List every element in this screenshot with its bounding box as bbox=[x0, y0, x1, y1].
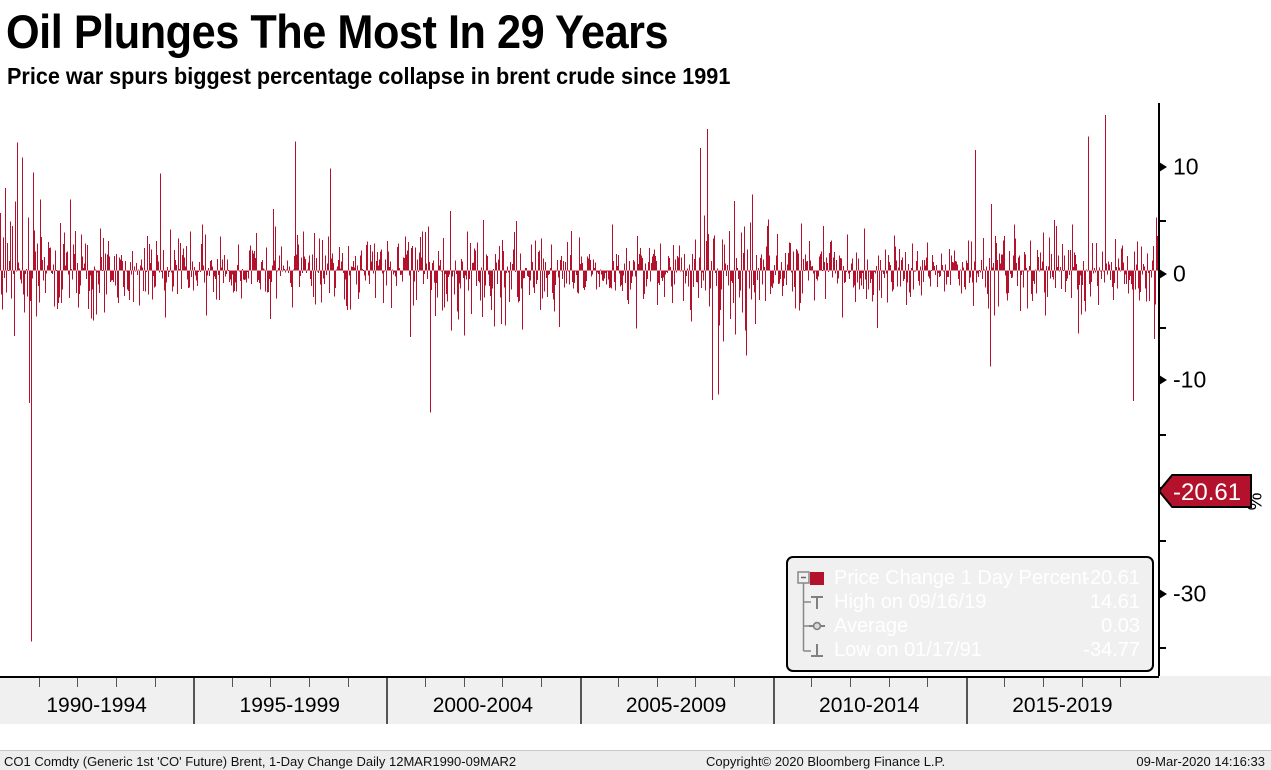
x-axis-tick bbox=[155, 678, 156, 687]
flag-arrow-icon bbox=[1159, 474, 1173, 508]
x-axis-label: 2015-2019 bbox=[1012, 694, 1112, 718]
y-tick-arrow-icon bbox=[1159, 162, 1167, 172]
x-axis-divider bbox=[580, 678, 582, 724]
x-axis-tick bbox=[270, 678, 271, 687]
chart-page: Oil Plunges The Most In 29 Years Price w… bbox=[0, 0, 1271, 770]
y-tick-minor bbox=[1160, 540, 1166, 542]
x-axis-tick bbox=[889, 678, 890, 687]
x-axis-tick bbox=[1004, 678, 1005, 687]
x-axis-tick bbox=[77, 678, 78, 687]
x-axis-tick bbox=[348, 678, 349, 687]
legend-row-label: High on 09/16/19 bbox=[834, 590, 986, 614]
x-axis-label: 2000-2004 bbox=[433, 694, 533, 718]
y-tick-arrow-icon bbox=[1159, 589, 1167, 599]
legend-row-value: 14.61 bbox=[1090, 590, 1140, 614]
x-axis-tick bbox=[811, 678, 812, 687]
x-axis-tick bbox=[425, 678, 426, 687]
y-tick-label: -30 bbox=[1173, 582, 1206, 605]
x-axis: 1990-19941995-19992000-20042005-20092010… bbox=[0, 676, 1271, 724]
chart-footer: CO1 Comdty (Generic 1st 'CO' Future) Bre… bbox=[0, 750, 1271, 770]
x-axis-tick bbox=[541, 678, 542, 687]
x-axis-tick bbox=[734, 678, 735, 687]
average-marker-icon bbox=[800, 614, 834, 638]
x-axis-divider bbox=[966, 678, 968, 724]
y-tick-minor bbox=[1160, 434, 1166, 436]
low-marker-icon bbox=[800, 638, 834, 662]
x-axis-tick bbox=[232, 678, 233, 687]
x-axis-tick bbox=[309, 678, 310, 687]
x-axis-divider bbox=[386, 678, 388, 724]
square-swatch-icon bbox=[800, 566, 834, 590]
x-axis-tick bbox=[1082, 678, 1083, 687]
legend-row-value: 0.03 bbox=[1101, 614, 1140, 638]
source-line: Source: Bloomberg bbox=[0, 724, 1271, 750]
y-tick-minor bbox=[1160, 647, 1166, 649]
y-tick-label: -10 bbox=[1173, 369, 1206, 392]
x-axis-tick bbox=[695, 678, 696, 687]
legend-row-value: -34.77 bbox=[1083, 638, 1140, 662]
x-axis-label: 1990-1994 bbox=[46, 694, 146, 718]
legend-row[interactable]: Low on 01/17/91-34.77 bbox=[788, 638, 1152, 662]
y-tick-arrow-icon bbox=[1159, 375, 1167, 385]
page-title: Oil Plunges The Most In 29 Years bbox=[6, 6, 668, 58]
legend-row-value: -20.61 bbox=[1083, 566, 1140, 590]
x-axis-divider bbox=[773, 678, 775, 724]
x-axis-label: 2010-2014 bbox=[819, 694, 919, 718]
y-tick-arrow-icon bbox=[1159, 269, 1167, 279]
footer-copyright: Copyright© 2020 Bloomberg Finance L.P. bbox=[706, 754, 945, 769]
y-axis: 100-10-30 % bbox=[1155, 100, 1271, 676]
x-axis-tick bbox=[464, 678, 465, 687]
x-axis-tick bbox=[502, 678, 503, 687]
x-axis-tick bbox=[1120, 678, 1121, 687]
x-axis-tick bbox=[657, 678, 658, 687]
x-axis-label: 1995-1999 bbox=[240, 694, 340, 718]
legend-row-label: Average bbox=[834, 614, 908, 638]
x-axis-tick bbox=[850, 678, 851, 687]
x-axis-tick bbox=[1043, 678, 1044, 687]
page-subtitle: Price war spurs biggest percentage colla… bbox=[7, 63, 730, 89]
legend-row[interactable]: Price Change 1 Day Percent-20.61 bbox=[788, 566, 1152, 590]
x-axis-label: 2005-2009 bbox=[626, 694, 726, 718]
footer-timestamp: 09-Mar-2020 14:16:33 bbox=[1136, 754, 1265, 769]
legend-row-label: Low on 01/17/91 bbox=[834, 638, 982, 662]
x-axis-divider bbox=[193, 678, 195, 724]
last-value-flag: -20.61 bbox=[1159, 474, 1252, 508]
x-axis-tick bbox=[618, 678, 619, 687]
last-value-flag-label: -20.61 bbox=[1172, 474, 1252, 508]
y-tick-minor bbox=[1160, 220, 1166, 222]
x-axis-tick bbox=[116, 678, 117, 687]
chart-header: Oil Plunges The Most In 29 Years Price w… bbox=[0, 0, 1271, 96]
y-tick-label: 10 bbox=[1173, 156, 1199, 179]
legend-rows: Price Change 1 Day Percent-20.61High on … bbox=[788, 558, 1152, 670]
high-marker-icon bbox=[800, 590, 834, 614]
x-axis-tick bbox=[39, 678, 40, 687]
x-axis-tick bbox=[927, 678, 928, 687]
y-tick-minor bbox=[1160, 327, 1166, 329]
legend-row-label: Price Change 1 Day Percent bbox=[834, 566, 1087, 590]
legend-row[interactable]: High on 09/16/1914.61 bbox=[788, 590, 1152, 614]
footer-security-line: CO1 Comdty (Generic 1st 'CO' Future) Bre… bbox=[4, 754, 516, 769]
legend-row[interactable]: Average0.03 bbox=[788, 614, 1152, 638]
chart-legend[interactable]: Price Change 1 Day Percent-20.61High on … bbox=[786, 556, 1154, 672]
y-tick-label: 0 bbox=[1173, 262, 1186, 285]
